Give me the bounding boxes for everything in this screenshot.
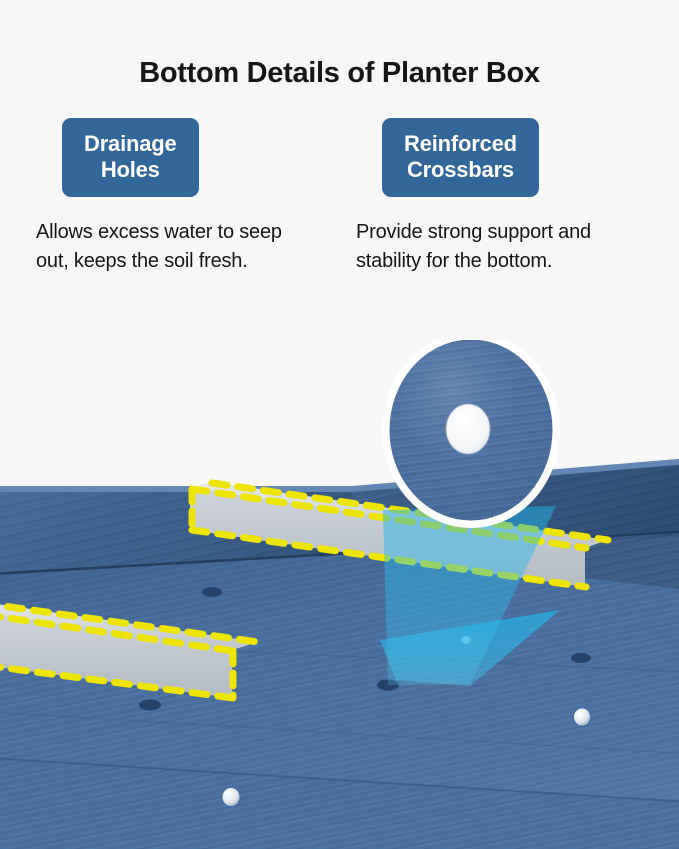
drainage-hole: [571, 653, 591, 663]
drainage-hole: [202, 587, 222, 597]
planter-box-illustration: [0, 340, 679, 849]
screw-head: [223, 788, 240, 806]
drainage-hole: [139, 700, 161, 711]
feature-description-reinforced-crossbars: Provide strong support and stability for…: [356, 218, 636, 275]
feature-block-drainage-holes: Drainage Holes Allows excess water to se…: [36, 118, 316, 275]
infographic-root: Bottom Details of Planter Box Drainage H…: [0, 0, 679, 849]
feature-description-drainage-holes: Allows excess water to seep out, keeps t…: [36, 218, 316, 275]
feature-badge-drainage-holes: Drainage Holes: [62, 118, 199, 197]
feature-block-reinforced-crossbars: Reinforced Crossbars Provide strong supp…: [356, 118, 636, 275]
product-image-planter-box-bottom: [0, 340, 679, 849]
page-title: Bottom Details of Planter Box: [0, 57, 679, 90]
feature-badge-reinforced-crossbars: Reinforced Crossbars: [382, 118, 539, 197]
screw-head: [574, 709, 590, 726]
